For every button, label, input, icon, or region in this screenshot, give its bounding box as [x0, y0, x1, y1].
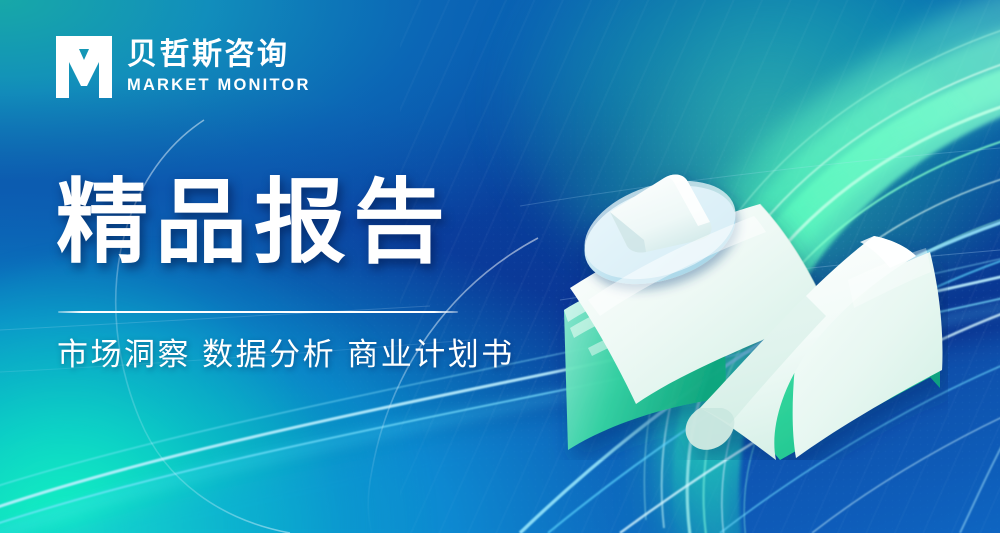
logo-text-block: 贝哲斯咨询 MARKET MONITOR	[127, 38, 311, 96]
logo-company-name-cn: 贝哲斯咨询	[127, 38, 311, 72]
page-title: 精品报告	[56, 176, 452, 272]
market-monitor-m-mark-icon	[56, 36, 112, 98]
page-subtitle: 市场洞察 数据分析 商业计划书	[57, 335, 515, 375]
title-divider	[58, 311, 458, 313]
report-banner: 贝哲斯咨询 MARKET MONITOR 精品报告 市场洞察 数据分析 商业计划…	[0, 0, 1000, 533]
logo-company-name-en: MARKET MONITOR	[127, 76, 311, 96]
brand-logo[interactable]: 贝哲斯咨询 MARKET MONITOR	[56, 36, 311, 98]
